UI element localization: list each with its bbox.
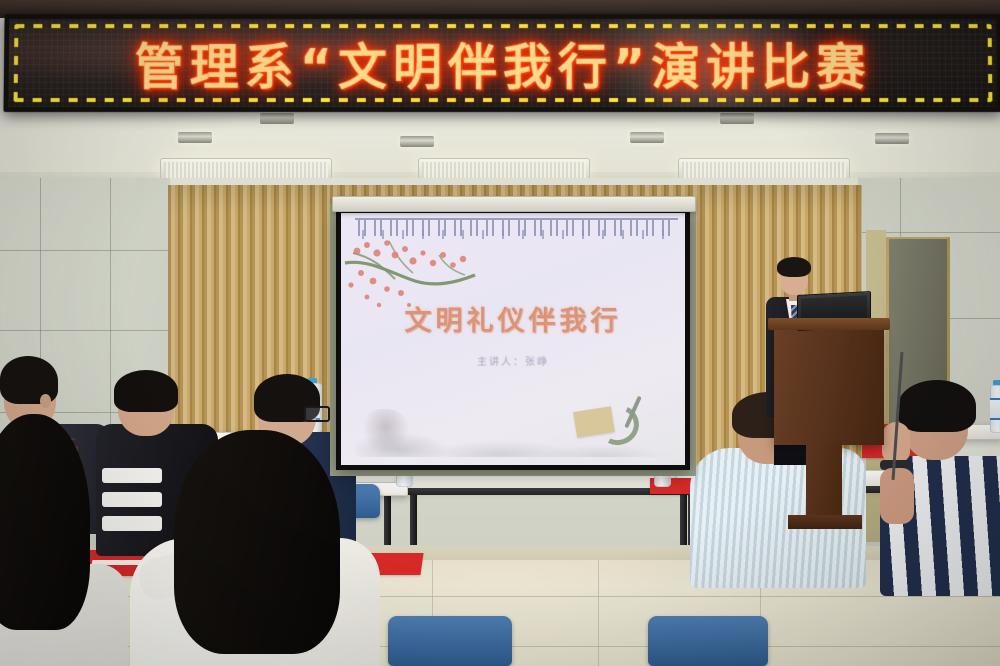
downlight-1 <box>178 132 212 143</box>
led-banner: 管理系“文明伴我行”演讲比赛 <box>3 14 1000 112</box>
desk-leg-mc2 <box>680 495 687 545</box>
downlight-3 <box>630 132 664 143</box>
led-border-bottom <box>15 98 992 102</box>
floor-grout-v2 <box>598 560 599 666</box>
scroll-and-brush-icon <box>575 399 637 443</box>
chair-7[interactable] <box>648 616 768 666</box>
lectern-base <box>788 515 862 529</box>
led-banner-text: 管理系“文明伴我行”演讲比赛 <box>9 28 998 99</box>
downlight-2 <box>400 136 434 147</box>
wooden-lectern <box>774 325 884 445</box>
wall-seam-h1 <box>0 250 170 251</box>
lectern-top <box>768 318 890 330</box>
projector-screen-housing <box>332 196 696 212</box>
downlight-6 <box>260 113 294 124</box>
downlight-5 <box>720 113 754 124</box>
desk-apron-mid-center <box>404 488 692 495</box>
chair-2[interactable] <box>388 616 512 666</box>
wall-seam-v3 <box>900 178 901 238</box>
hair <box>898 380 976 432</box>
ear <box>40 394 51 408</box>
presenter-hair <box>777 257 811 277</box>
student-front-left-long-hair <box>0 414 130 666</box>
slide-subtitle: 主讲人：张峥 <box>341 353 685 368</box>
projector-screen: 文明礼仪伴我行 主讲人：张峥 <box>336 208 690 470</box>
wall-seam-h2 <box>0 330 170 331</box>
downlight-4 <box>875 133 909 144</box>
slide-title: 文明礼仪伴我行 <box>341 299 685 338</box>
lecture-hall-photo: 管理系“文明伴我行”演讲比赛 <box>0 0 1000 666</box>
forearm <box>880 468 914 524</box>
hair <box>0 414 90 630</box>
glasses-icon <box>304 406 330 422</box>
lectern-column <box>806 442 842 520</box>
hair <box>114 370 178 412</box>
desk-leg-mc1 <box>410 495 417 545</box>
hair <box>174 430 340 654</box>
slide-canvas: 文明礼仪伴我行 主讲人：张峥 <box>341 213 685 465</box>
